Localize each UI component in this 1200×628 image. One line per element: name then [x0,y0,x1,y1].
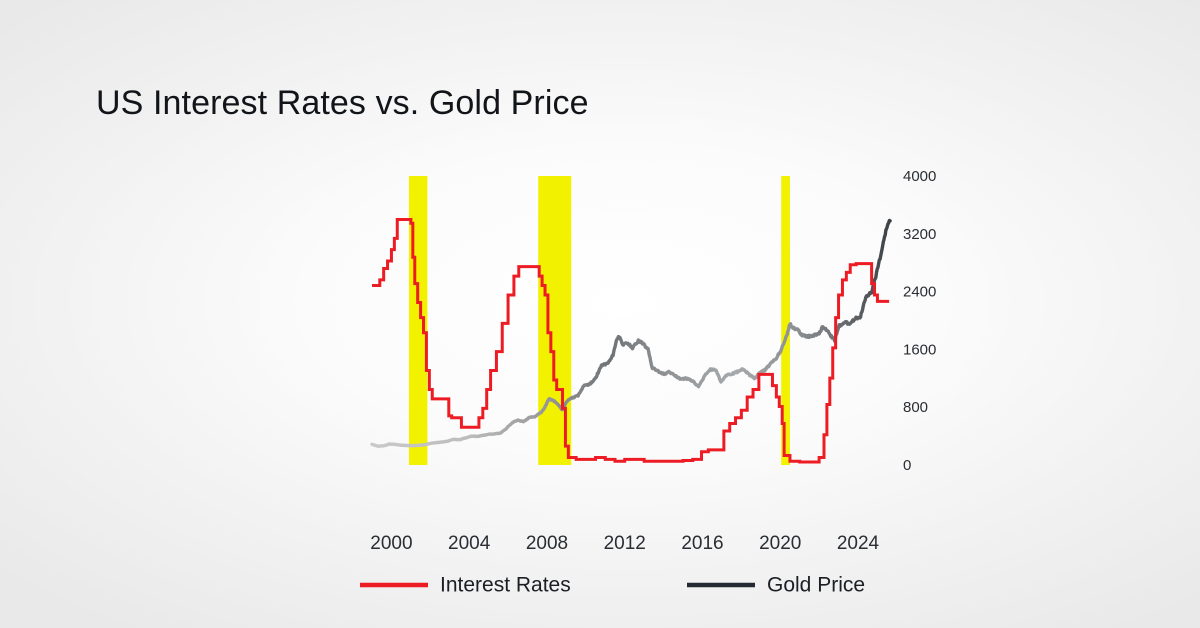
y-tick-1600: 1600 [903,341,936,358]
interest-rates-path [372,219,889,462]
y-tick-800: 800 [903,399,928,416]
x-tick-2016: 2016 [681,533,723,554]
x-tick-2012: 2012 [604,533,646,554]
recession-bands-group [409,176,790,465]
y-tick-4000: 4000 [903,168,936,185]
legend-label-interest-rates: Interest Rates [440,574,571,597]
x-axis-tick-labels: 2000200420082012201620202024 [370,533,879,554]
x-tick-2020: 2020 [759,533,801,554]
y-tick-0: 0 [903,457,911,474]
y-tick-3200: 3200 [903,226,936,243]
x-tick-2024: 2024 [837,533,880,554]
x-tick-2008: 2008 [526,533,568,554]
interest-rates-vs-gold-price-chart: 08001600240032004000 2000200420082012201… [0,0,1200,628]
y-tick-2400: 2400 [903,284,936,301]
x-tick-2000: 2000 [370,533,412,554]
x-tick-2004: 2004 [448,533,491,554]
chart-container: 08001600240032004000 2000200420082012201… [0,0,1200,628]
chart-legend: Interest RatesGold Price [360,574,865,597]
y-axis-tick-labels: 08001600240032004000 [903,168,936,474]
interest-rates-line [372,219,889,462]
legend-label-gold-price: Gold Price [767,574,865,597]
page-root: US Interest Rates vs. Gold Price 0800160… [0,0,1200,628]
